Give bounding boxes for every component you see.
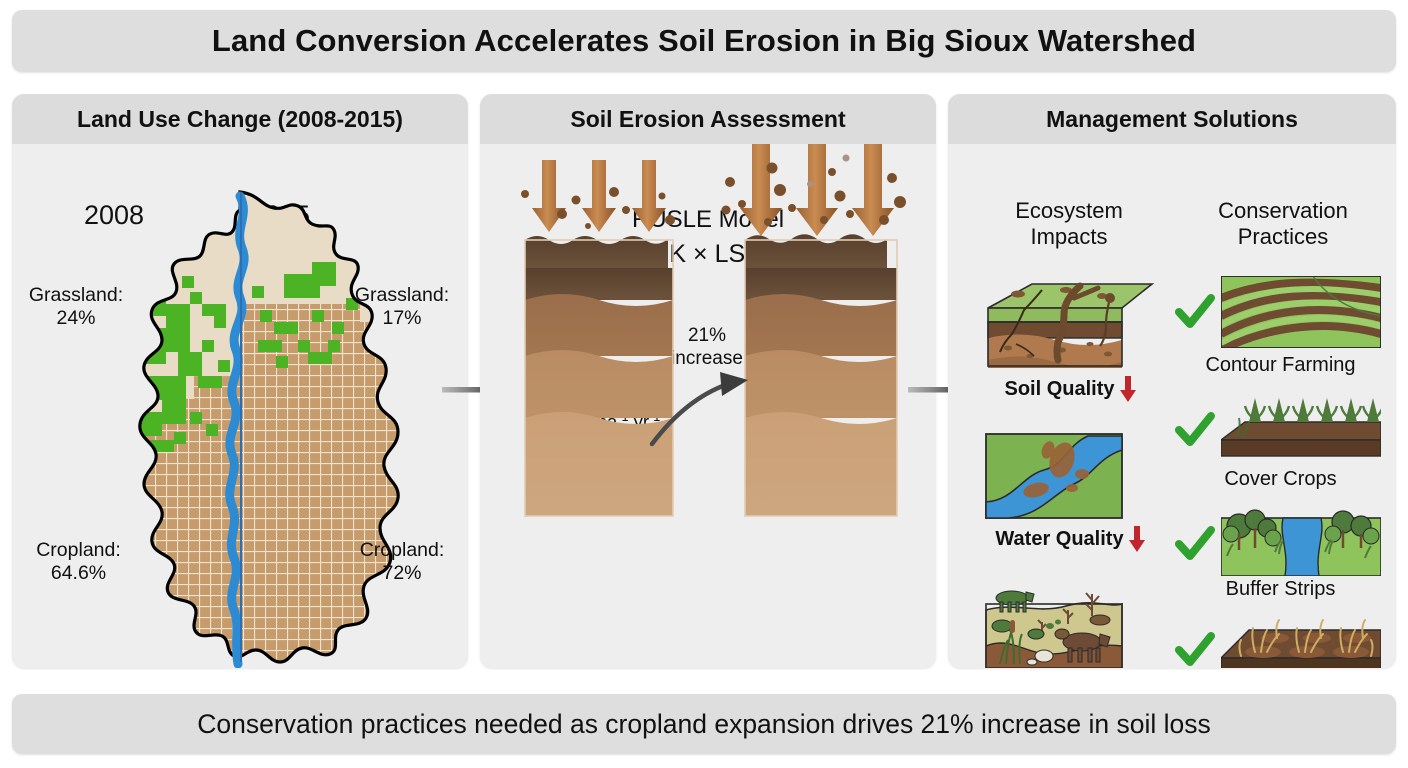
stat-value: 72% <box>342 562 462 585</box>
page-title: Land Conversion Accelerates Soil Erosion… <box>212 23 1196 59</box>
panel-management-solutions: Management Solutions Ecosystem Impacts C… <box>948 94 1396 668</box>
year-divider-line <box>240 192 242 662</box>
eco-item-biodiversity: Biodiversity <box>970 576 1170 668</box>
col-title-line2: Practices <box>1178 224 1388 250</box>
col-title-line2: Impacts <box>964 224 1174 250</box>
check-icon <box>1173 522 1217 566</box>
cons-caption-cover-crops: Cover Crops <box>1173 468 1388 491</box>
stat-label: Grassland: <box>342 284 462 307</box>
panel-body-erosion: RUSLE Model A = R × K × LS × C × P 2008 … <box>480 144 936 668</box>
water-quality-icon <box>970 428 1170 523</box>
stat-label: Grassland: <box>16 284 136 307</box>
panel-body-management: Ecosystem Impacts Conservation Practices <box>948 144 1396 668</box>
panel-title-management: Management Solutions <box>1046 106 1298 133</box>
no-till-icon <box>1221 612 1381 668</box>
infographic-root: Land Conversion Accelerates Soil Erosion… <box>0 0 1408 768</box>
contour-farming-icon <box>1221 276 1381 348</box>
soil-profile-diagrams <box>480 144 936 668</box>
check-icon <box>1173 628 1217 668</box>
stat-grassland-2015: Grassland: 17% <box>342 284 462 330</box>
footer-banner: Conservation practices needed as croplan… <box>12 694 1396 754</box>
stat-grassland-2008: Grassland: 24% <box>16 284 136 330</box>
soil-quality-icon <box>970 274 1170 374</box>
panel-soil-erosion-assessment: Soil Erosion Assessment RUSLE Model A = … <box>480 94 936 668</box>
panel-body-land-use: 2008 2015 <box>12 144 468 668</box>
panel-title-land-use: Land Use Change (2008-2015) <box>77 106 403 133</box>
stat-label: Cropland: <box>342 539 462 562</box>
col-title-line1: Ecosystem <box>964 198 1174 224</box>
eco-item-soil-quality: Soil Quality <box>970 274 1170 379</box>
cons-caption-contour-farming: Contour Farming <box>1173 354 1388 377</box>
panel-land-use-change: Land Use Change (2008-2015) 2008 2015 <box>12 94 468 668</box>
column-title-conservation-practices: Conservation Practices <box>1178 198 1388 251</box>
stat-cropland-2015: Cropland: 72% <box>342 539 462 585</box>
cons-caption-buffer-strips: Buffer Strips <box>1173 578 1388 601</box>
column-title-ecosystem-impacts: Ecosystem Impacts <box>964 198 1174 251</box>
eco-caption-water-quality: Water Quality <box>970 526 1170 552</box>
stat-value: 64.6% <box>16 562 141 585</box>
buffer-strips-icon <box>1221 504 1381 576</box>
eco-item-water-quality: Water Quality <box>970 428 1170 528</box>
stat-cropland-2008: Cropland: 64.6% <box>16 539 141 585</box>
panel-header-management: Management Solutions <box>948 94 1396 144</box>
stat-label: Cropland: <box>16 539 141 562</box>
title-banner: Land Conversion Accelerates Soil Erosion… <box>12 10 1396 72</box>
check-icon <box>1173 408 1217 452</box>
soil-profile-2015 <box>722 144 907 516</box>
col-title-line1: Conservation <box>1178 198 1388 224</box>
soil-profile-2008 <box>521 160 675 516</box>
stat-value: 17% <box>342 307 462 330</box>
cover-crops-icon <box>1221 396 1381 468</box>
down-arrow-icon <box>1129 526 1145 552</box>
eco-caption-soil-quality: Soil Quality <box>970 376 1170 402</box>
panel-header-erosion: Soil Erosion Assessment <box>480 94 936 144</box>
eco-label: Soil Quality <box>1004 378 1114 401</box>
footer-summary: Conservation practices needed as croplan… <box>197 709 1210 740</box>
panel-header-land-use: Land Use Change (2008-2015) <box>12 94 468 144</box>
map-fill-group <box>132 184 412 668</box>
down-arrow-icon <box>1120 376 1136 402</box>
panel-title-erosion: Soil Erosion Assessment <box>570 106 845 133</box>
stat-value: 24% <box>16 307 136 330</box>
eco-label: Water Quality <box>995 528 1123 551</box>
biodiversity-icon <box>970 576 1170 668</box>
check-icon <box>1173 290 1217 334</box>
